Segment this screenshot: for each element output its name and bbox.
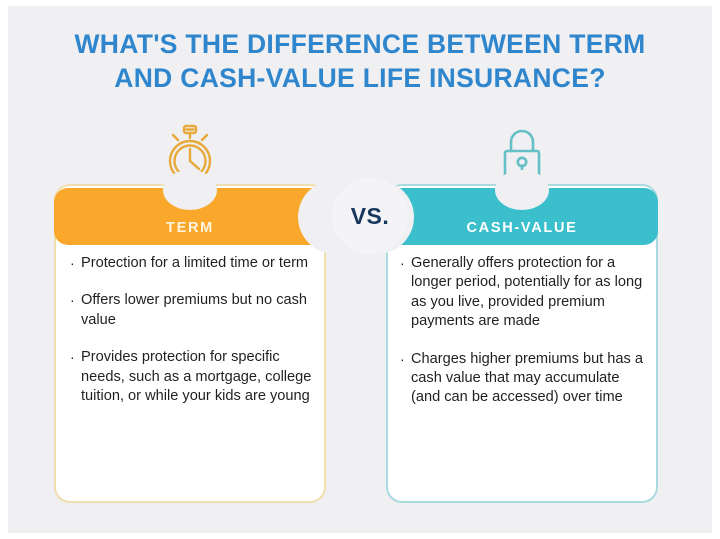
bullet-list-cash-value: · Generally offers protection for a long… [400, 254, 652, 426]
bullet-marker: · [70, 348, 81, 406]
bullet-marker: · [400, 254, 411, 332]
list-item-text: Charges higher premiums but has a cash v… [411, 350, 652, 408]
list-item: · Provides protection for specific needs… [70, 348, 322, 406]
list-item-text: Generally offers protection for a longer… [411, 254, 652, 332]
list-item-text: Provides protection for specific needs, … [81, 348, 322, 406]
list-item: · Protection for a limited time or term [70, 254, 322, 273]
list-item: · Offers lower premiums but no cash valu… [70, 291, 322, 330]
page-title: What's the Difference Between Term and C… [8, 28, 712, 96]
header-bar-term: TERM [54, 188, 326, 245]
header-bar-cash-value: CASH-VALUE [386, 188, 658, 245]
versus-label: VS. [351, 203, 390, 230]
page-title-line-2: and Cash-Value Life Insurance? [8, 62, 712, 96]
bullet-marker: · [70, 254, 81, 273]
bullet-marker: · [70, 291, 81, 330]
header-label-term: TERM [54, 188, 326, 245]
versus-badge: VS. [332, 178, 408, 254]
bullet-list-term: · Protection for a limited time or term … [70, 254, 322, 424]
infographic-canvas: What's the Difference Between Term and C… [8, 6, 712, 533]
list-item: · Charges higher premiums but has a cash… [400, 350, 652, 408]
page-title-line-1: What's the Difference Between Term [74, 29, 645, 59]
list-item-text: Protection for a limited time or term [81, 254, 322, 273]
header-label-cash-value: CASH-VALUE [386, 188, 658, 245]
list-item-text: Offers lower premiums but no cash value [81, 291, 322, 330]
list-item: · Generally offers protection for a long… [400, 254, 652, 332]
bullet-marker: · [400, 350, 411, 408]
